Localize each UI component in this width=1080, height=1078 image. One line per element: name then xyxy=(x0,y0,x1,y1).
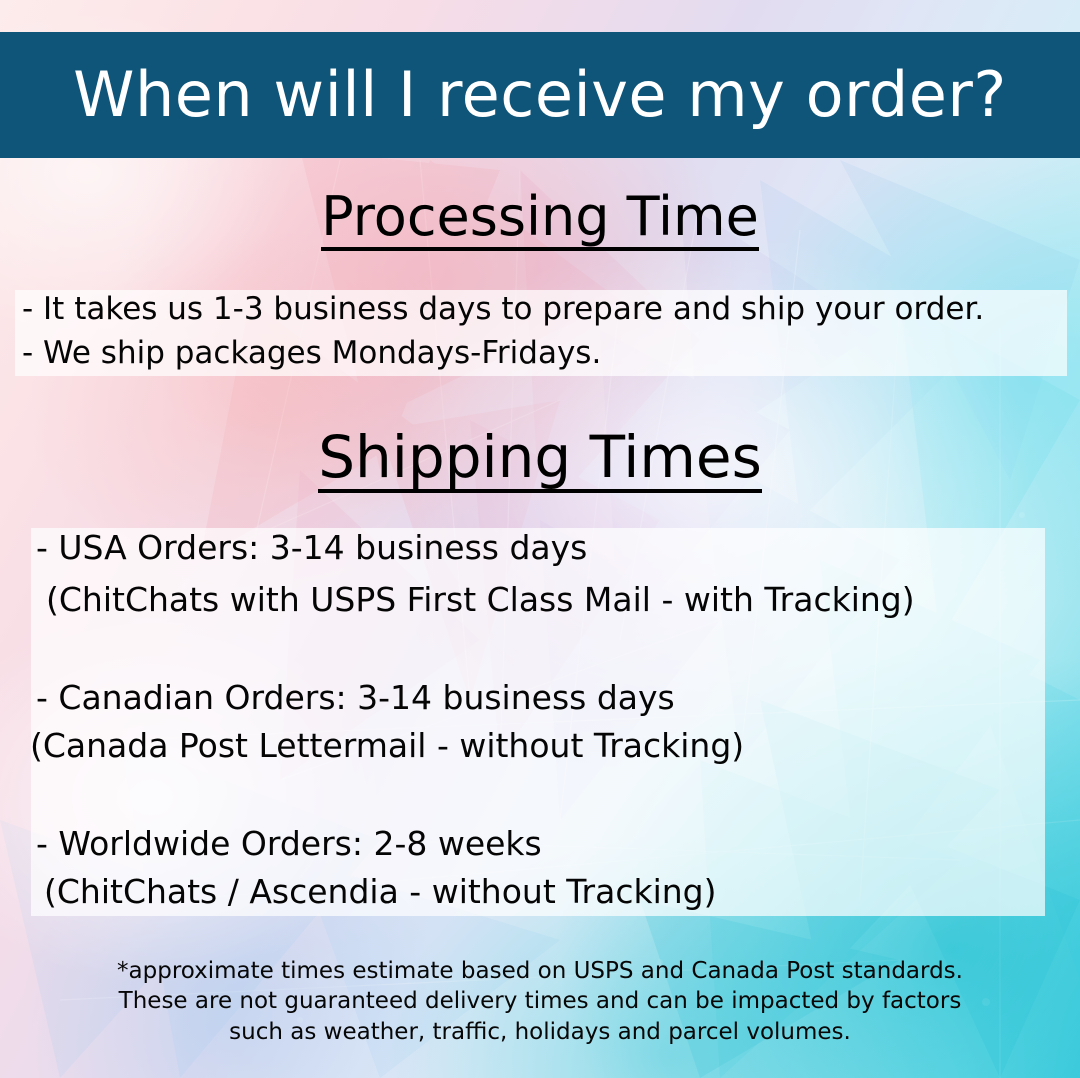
header-banner: When will I receive my order? xyxy=(0,32,1080,158)
shipping-entry-canada-title: - Canadian Orders: 3-14 business days xyxy=(36,681,675,714)
shipping-entry-usa-detail: (ChitChats with USPS First Class Mail - … xyxy=(46,583,915,616)
page-title: When will I receive my order? xyxy=(73,64,1007,126)
processing-time-heading-text: Processing Time xyxy=(321,190,759,251)
footnote-line-3: such as weather, traffic, holidays and p… xyxy=(0,1017,1080,1047)
shipping-entry-worldwide-detail: (ChitChats / Ascendia - without Tracking… xyxy=(44,875,717,908)
footnote: *approximate times estimate based on USP… xyxy=(0,956,1080,1047)
processing-time-line-2: - We ship packages Mondays-Fridays. xyxy=(22,338,601,369)
shipping-entry-usa-title: - USA Orders: 3-14 business days xyxy=(36,531,587,564)
footnote-line-2: These are not guaranteed delivery times … xyxy=(0,986,1080,1016)
content-area: Processing Time - It takes us 1-3 busine… xyxy=(0,0,1080,1078)
shipping-times-heading-text: Shipping Times xyxy=(318,428,762,493)
processing-time-line-1: - It takes us 1-3 business days to prepa… xyxy=(22,294,984,325)
processing-time-heading: Processing Time xyxy=(0,190,1080,251)
shipping-entry-worldwide-title: - Worldwide Orders: 2-8 weeks xyxy=(36,827,542,860)
infographic-page: When will I receive my order? Processing… xyxy=(0,0,1080,1078)
footnote-line-1: *approximate times estimate based on USP… xyxy=(0,956,1080,986)
shipping-entry-canada-detail: (Canada Post Lettermail - without Tracki… xyxy=(30,729,744,762)
shipping-times-heading: Shipping Times xyxy=(0,428,1080,493)
